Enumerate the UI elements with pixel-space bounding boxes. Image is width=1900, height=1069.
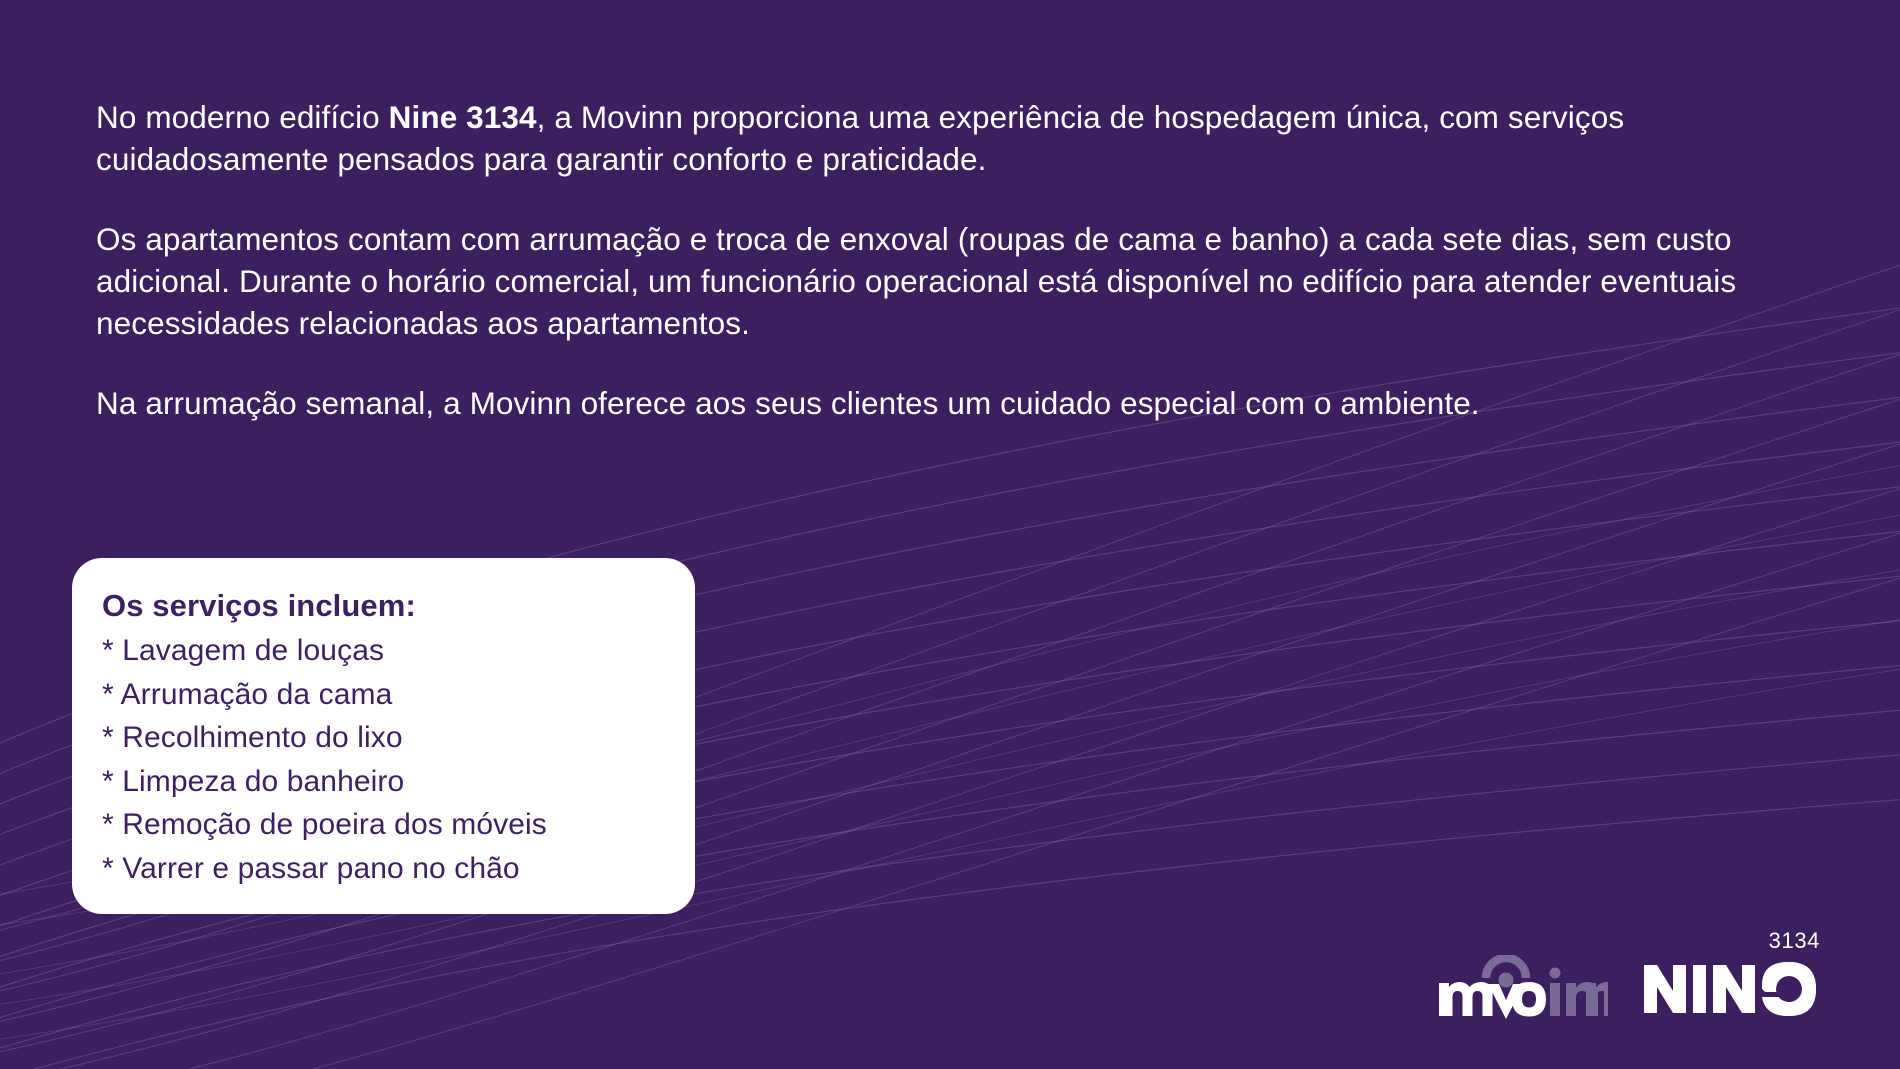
services-card: Os serviços incluem: * Lavagem de louças… [72,558,695,914]
paragraph-intro: No moderno edifício Nine 3134, a Movinn … [96,96,1816,180]
services-list: * Lavagem de louças * Arrumação da cama … [102,629,665,890]
list-item: * Lavagem de louças [102,629,665,673]
presentation-slide: No moderno edifício Nine 3134, a Movinn … [0,0,1900,1069]
logo-bar: 3134 [1436,955,1822,1021]
building-name: Nine 3134 [389,99,537,135]
list-item: * Recolhimento do lixo [102,716,665,760]
paragraph-services-detail: Os apartamentos contam com arrumação e t… [96,218,1811,344]
list-item: * Remoção de poeira dos móveis [102,803,665,847]
paragraph-intro-lead: No moderno edifício [96,99,389,135]
body-copy: No moderno edifício Nine 3134, a Movinn … [96,96,1816,424]
list-item: * Limpeza do banheiro [102,760,665,804]
list-item: * Arrumação da cama [102,673,665,717]
list-item: * Varrer e passar pano no chão [102,847,665,891]
movinn-logo [1436,955,1608,1021]
paragraph-weekly-care: Na arrumação semanal, a Movinn oferece a… [96,382,1516,424]
nine-logo: 3134 [1642,960,1822,1021]
nine-logo-wordmark [1642,960,1822,1016]
services-card-title: Os serviços incluem: [102,584,665,628]
nine-logo-number: 3134 [1769,930,1820,952]
